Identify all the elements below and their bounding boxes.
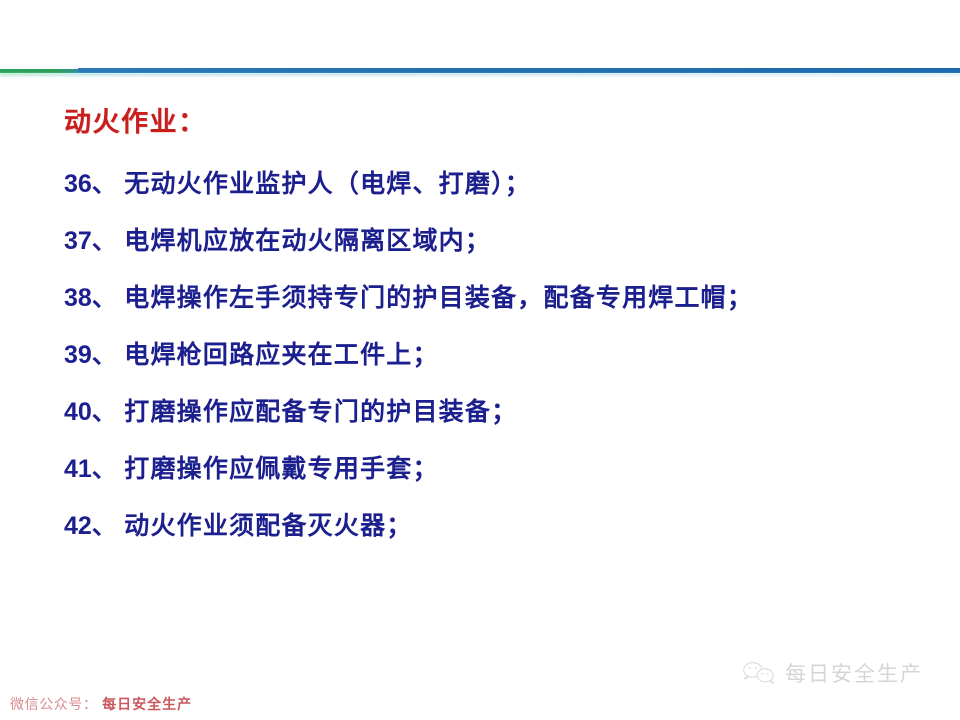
list-item-text: 动火作业须配备灭火器； [124,513,412,540]
wechat-icon [742,660,776,686]
watermark: 每日安全生产 [742,658,923,688]
list-item: 42、 动火作业须配备灭火器； [64,498,924,555]
watermark-text: 每日安全生产 [785,658,923,688]
hazard-item-list: 36、 无动火作业监护人（电焊、打磨）； 37、 电焊机应放在动火隔离区域内； … [64,156,924,555]
list-item-text: 无动火作业监护人（电焊、打磨）； [124,171,531,198]
list-item-number: 36、 [64,170,117,198]
section-title: 动火作业： [64,100,207,139]
list-item-number: 40、 [64,398,117,426]
list-item-number: 39、 [64,341,117,369]
list-item: 39、 电焊枪回路应夹在工件上； [64,327,924,384]
account-credit-label: 微信公众号： [10,696,98,712]
list-item-text: 打磨操作应佩戴专用手套； [124,456,438,483]
list-item-number: 42、 [64,512,117,540]
slide-canvas: 动火作业： 36、 无动火作业监护人（电焊、打磨）； 37、 电焊机应放在动火隔… [0,0,960,720]
list-item-text: 电焊枪回路应夹在工件上； [124,342,438,369]
divider-glow [0,73,960,76]
header-divider-rule [0,68,960,74]
list-item: 36、 无动火作业监护人（电焊、打磨）； [64,156,924,213]
list-item-number: 37、 [64,227,117,255]
list-item-text: 电焊机应放在动火隔离区域内； [124,228,491,255]
list-item: 38、 电焊操作左手须持专门的护目装备，配备专用焊工帽； [64,270,924,327]
list-item-text: 电焊操作左手须持专门的护目装备，配备专用焊工帽； [124,285,753,312]
list-item-number: 41、 [64,455,117,483]
account-credit: 微信公众号： 每日安全生产 [10,694,192,714]
list-item: 37、 电焊机应放在动火隔离区域内； [64,213,924,270]
account-credit-name: 每日安全生产 [102,696,192,712]
list-item-number: 38、 [64,284,117,312]
list-item-text: 打磨操作应配备专门的护目装备； [124,399,517,426]
list-item: 41、 打磨操作应佩戴专用手套； [64,441,924,498]
list-item: 40、 打磨操作应配备专门的护目装备； [64,384,924,441]
